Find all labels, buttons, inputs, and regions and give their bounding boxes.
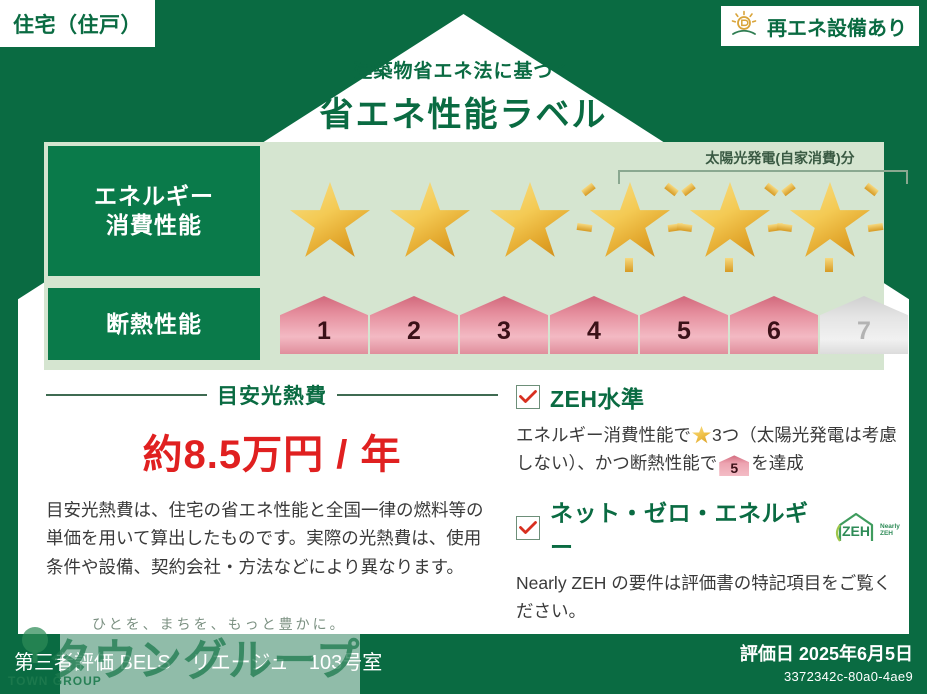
label-title-block: 建築物省エネ法に基づく 省エネ性能ラベル [0,56,927,136]
star-sparkle-icon [725,258,733,272]
zeh-standard-heading: ZEH水準 [516,380,908,414]
title-subtitle: 建築物省エネ法に基づく [0,56,927,83]
star-icon [480,174,580,270]
zeh-star-count: 3つ [712,425,739,445]
insulation-level-5: 5 [640,296,728,354]
label-footer: 第三者評価 BELS リエージュ 103号室 評価日 2025年6月5日 337… [0,632,927,694]
utility-cost-block: 目安光熱費 約8.5万円 / 年 目安光熱費は、住宅の省エネ性能と全国一律の燃料… [46,380,498,581]
star-shape [790,182,870,260]
checkbox-checked-icon [516,385,540,409]
checkbox-checked-icon [516,516,540,540]
performance-panel: エネルギー 消費性能 太陽光発電(自家消費)分 断熱性能 1234567 [44,142,884,370]
svg-text:ZEH: ZEH [842,523,870,539]
insulation-level-3: 3 [460,296,548,354]
energy-label-root: 住宅（住戸） 再エネ設備あり 建築物省エネ法に基づく 省エネ性能ラベル [0,0,927,694]
star-sparkle-icon [825,258,833,272]
insulation-level-4: 4 [550,296,638,354]
zeh-body-part3: を達成 [751,453,804,473]
utility-cost-heading: 目安光熱費 [46,380,498,410]
rule-right [337,394,498,396]
footer-evaluation-info: 評価日 2025年6月5日 3372342c-80a0-4ae9 [740,640,913,684]
star-shape [590,182,670,260]
inline-insulation-house-icon: 5 [719,455,749,476]
star-sparkle-icon [764,183,779,197]
star-icon [380,174,480,270]
net-zero-energy-heading: ネット・ゼロ・エネルギー ZEH Nearly ZEH [516,494,908,562]
footer-evaluation-id: 3372342c-80a0-4ae9 [740,669,913,684]
zeh-body-part1: エネルギー消費性能で [516,425,691,445]
star-sparkle-icon [868,223,884,232]
energy-star-rating [280,168,880,272]
insulation-label-text: 断熱性能 [106,310,202,339]
insulation-level-scale: 1234567 [280,290,900,358]
insulation-level-1: 1 [280,296,368,354]
star-icon [280,174,380,270]
star-sparkle-icon [681,183,696,197]
zeh-criteria-block: ZEH水準 エネルギー消費性能で3つ（太陽光発電は考慮しない）、かつ断熱性能で5… [516,380,908,625]
svg-text:ZEH: ZEH [880,530,893,537]
zeh-standard-body: エネルギー消費性能で3つ（太陽光発電は考慮しない）、かつ断熱性能で5を達成 [516,421,908,478]
solar-generation-note: 太陽光発電(自家消費)分 [640,148,920,168]
renewable-equipment-badge: 再エネ設備あり [721,6,919,46]
insulation-performance-label: 断熱性能 [48,288,260,360]
star-solar-icon [680,174,780,270]
category-tag-label: 住宅（住戸） [13,9,142,39]
star-solar-icon [580,174,680,270]
star-sparkle-icon [625,258,633,272]
footer-property-name: 第三者評価 BELS リエージュ 103号室 [14,646,382,675]
star-shape [390,182,470,260]
renewable-badge-label: 再エネ設備あり [767,12,907,41]
star-shape [490,182,570,260]
utility-cost-heading-text: 目安光熱費 [217,380,327,410]
star-sparkle-icon [864,183,879,197]
energy-label-line1: エネルギー [94,182,214,211]
utility-cost-value: 約8.5万円 / 年 [46,422,498,480]
zeh-standard-title: ZEH水準 [550,380,645,414]
star-shape [690,182,770,260]
insulation-level-7: 7 [820,296,908,354]
solar-sun-icon [729,10,759,43]
energy-performance-row: エネルギー 消費性能 太陽光発電(自家消費)分 [44,142,884,282]
insulation-performance-row: 断熱性能 1234567 [44,288,884,360]
insulation-level-2: 2 [370,296,458,354]
star-sparkle-icon [581,183,596,197]
category-tag: 住宅（住戸） [0,0,155,47]
rule-left [46,394,207,396]
energy-label-line2: 消費性能 [106,211,202,240]
footer-evaluation-date: 評価日 2025年6月5日 [740,640,913,666]
utility-cost-note: 目安光熱費は、住宅の省エネ性能と全国一律の燃料等の単価を用いて算出したものです。… [46,496,498,581]
zeh-logo-icon: ZEH Nearly ZEH [832,511,908,545]
star-sparkle-icon [781,183,796,197]
star-solar-icon [780,174,880,270]
star-shape [290,182,370,260]
insulation-level-6: 6 [730,296,818,354]
net-zero-energy-body: Nearly ZEH の要件は評価書の特記項目をご覧ください。 [516,569,908,626]
title-main: 省エネ性能ラベル [0,87,927,136]
svg-text:Nearly: Nearly [880,523,900,530]
inline-star-icon [692,426,711,444]
energy-performance-label: エネルギー 消費性能 [48,146,260,276]
star-sparkle-icon [664,183,679,197]
net-zero-energy-title: ネット・ゼロ・エネルギー [550,494,822,562]
